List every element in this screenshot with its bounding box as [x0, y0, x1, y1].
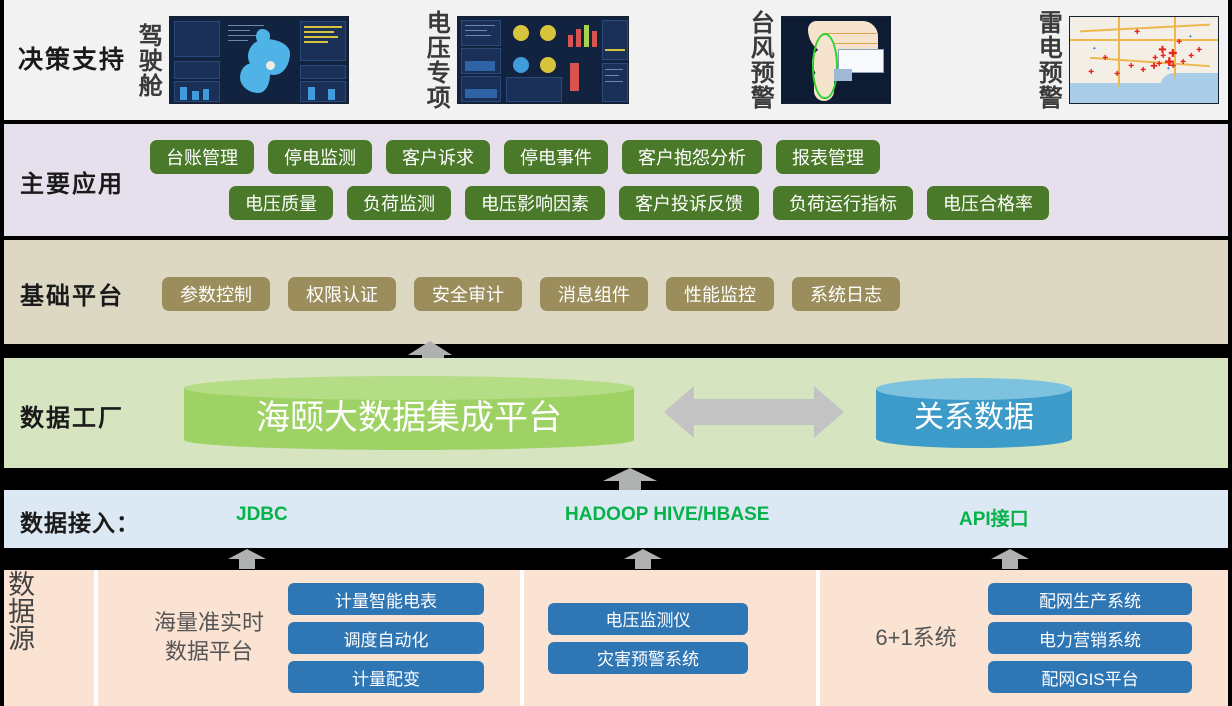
source-chips-monitoring: 电压监测仪 灾害预警系统 — [548, 603, 748, 674]
basic-platform-band: 基础平台 参数控制 权限认证 安全审计 消息组件 性能监控 系统日志 — [4, 240, 1228, 344]
source-chip-metering-transformer[interactable]: 计量配变 — [288, 661, 484, 693]
data-access-band: 数据接入： JDBC HADOOP HIVE/HBASE API接口 — [4, 490, 1228, 548]
architecture-diagram: 决策支持 驾驶舱 — [0, 0, 1232, 706]
thumbnail-title-typhoon: 台风预警 — [746, 10, 771, 110]
apps-row-1: 台账管理 停电监测 客户诉求 停电事件 客户抱怨分析 报表管理 — [150, 140, 880, 174]
app-pill-report-management[interactable]: 报表管理 — [776, 140, 880, 174]
app-pill-voltage-factors[interactable]: 电压影响因素 — [465, 186, 605, 220]
data-factory-label: 数据工厂 — [20, 398, 124, 433]
big-data-platform-cylinder[interactable]: 海颐大数据集成平台 — [184, 378, 634, 450]
source-chip-disaster-warning[interactable]: 灾害预警系统 — [548, 642, 748, 674]
source-chip-dispatch-automation[interactable]: 调度自动化 — [288, 622, 484, 654]
app-pill-voltage-pass-rate[interactable]: 电压合格率 — [927, 186, 1049, 220]
access-item-jdbc[interactable]: JDBC — [236, 504, 288, 526]
thumbnail-group-lightning[interactable]: 雷电预警 ✦ ✦ ✦ ✚ ✚ ✚ ✚ ✚ ✚ ✚ ✚ ✚ — [1034, 8, 1219, 112]
access-item-api[interactable]: API接口 — [959, 504, 1029, 531]
arrow-up-access-to-factory — [580, 468, 680, 492]
source-group-name-realtime: 海量准实时 数据平台 — [144, 609, 274, 666]
thumbnail-title-cockpit: 驾驶舱 — [134, 23, 159, 98]
thumbnail-group-typhoon[interactable]: 台风预警 — [746, 8, 891, 112]
access-item-hadoop[interactable]: HADOOP HIVE/HBASE — [565, 504, 769, 526]
relational-database-cylinder[interactable]: 关系数据 — [876, 380, 1072, 448]
main-applications-band: 主要应用 台账管理 停电监测 客户诉求 停电事件 客户抱怨分析 报表管理 电压质… — [4, 124, 1228, 236]
basic-platform-label: 基础平台 — [20, 276, 124, 311]
source-group-6plus1: 6+1系统 配网生产系统 电力营销系统 配网GIS平台 — [866, 570, 1192, 706]
decision-support-label: 决策支持 — [18, 40, 126, 76]
platform-pill-system-log[interactable]: 系统日志 — [792, 277, 900, 311]
app-pill-ledger-management[interactable]: 台账管理 — [150, 140, 254, 174]
platform-pill-security-audit[interactable]: 安全审计 — [414, 277, 522, 311]
platform-pill-performance-monitor[interactable]: 性能监控 — [666, 277, 774, 311]
source-chips-6plus1: 配网生产系统 电力营销系统 配网GIS平台 — [988, 583, 1192, 693]
data-sources-label: 数据源 — [4, 570, 33, 651]
divider-1 — [94, 570, 98, 706]
app-pill-load-monitoring[interactable]: 负荷监测 — [347, 186, 451, 220]
source-chip-smart-meter[interactable]: 计量智能电表 — [288, 583, 484, 615]
app-pill-load-indicators[interactable]: 负荷运行指标 — [773, 186, 913, 220]
source-group-monitoring: 电压监测仪 灾害预警系统 — [548, 570, 748, 706]
source-chip-distribution-gis[interactable]: 配网GIS平台 — [988, 661, 1192, 693]
platform-items-row: 参数控制 权限认证 安全审计 消息组件 性能监控 系统日志 — [162, 277, 900, 311]
relational-database-label: 关系数据 — [914, 392, 1034, 436]
big-data-platform-label: 海颐大数据集成平台 — [256, 390, 562, 439]
arrow-up-source-to-api — [985, 549, 1035, 569]
app-pill-customer-demand[interactable]: 客户诉求 — [386, 140, 490, 174]
arrow-up-source-to-hadoop — [618, 549, 668, 569]
decision-support-band: 决策支持 驾驶舱 — [4, 0, 1228, 120]
thumbnail-group-voltage[interactable]: 电压专项 — [422, 8, 629, 112]
source-chip-distribution-production[interactable]: 配网生产系统 — [988, 583, 1192, 615]
thumbnail-group-cockpit[interactable]: 驾驶舱 — [134, 8, 349, 112]
data-access-label: 数据接入： — [20, 504, 140, 538]
app-pill-complaint-feedback[interactable]: 客户投诉反馈 — [619, 186, 759, 220]
cockpit-dashboard-thumbnail[interactable] — [169, 16, 349, 104]
main-applications-label: 主要应用 — [20, 164, 124, 199]
data-factory-band: 数据工厂 海颐大数据集成平台 关系数据 — [4, 358, 1228, 468]
divider-3 — [816, 570, 820, 706]
app-pill-outage-monitoring[interactable]: 停电监测 — [268, 140, 372, 174]
source-chip-voltage-monitor[interactable]: 电压监测仪 — [548, 603, 748, 635]
thumbnail-title-voltage: 电压专项 — [422, 10, 447, 110]
arrow-up-source-to-jdbc — [222, 549, 272, 569]
app-pill-voltage-quality[interactable]: 电压质量 — [229, 186, 333, 220]
bidirectional-arrow — [664, 386, 844, 438]
voltage-dashboard-thumbnail[interactable] — [457, 16, 629, 104]
source-group-realtime-platform: 海量准实时 数据平台 计量智能电表 调度自动化 计量配变 — [144, 570, 484, 706]
source-group-name-6plus1: 6+1系统 — [866, 624, 966, 653]
divider-2 — [520, 570, 524, 706]
platform-pill-parameter-control[interactable]: 参数控制 — [162, 277, 270, 311]
app-pill-complaint-analysis[interactable]: 客户抱怨分析 — [622, 140, 762, 174]
thumbnail-title-lightning: 雷电预警 — [1034, 10, 1059, 110]
lightning-map-thumbnail[interactable]: ✦ ✦ ✦ ✚ ✚ ✚ ✚ ✚ ✚ ✚ ✚ ✚ ✚ ✚ ✚ ✚ ✚ ✚ ✚ ✚ — [1069, 16, 1219, 104]
source-chip-power-marketing[interactable]: 电力营销系统 — [988, 622, 1192, 654]
app-pill-outage-event[interactable]: 停电事件 — [504, 140, 608, 174]
source-chips-realtime: 计量智能电表 调度自动化 计量配变 — [288, 583, 484, 693]
typhoon-map-thumbnail[interactable] — [781, 16, 891, 104]
platform-pill-permission-auth[interactable]: 权限认证 — [288, 277, 396, 311]
data-sources-band: 数据源 海量准实时 数据平台 计量智能电表 调度自动化 计量配变 电压监测仪 灾… — [4, 570, 1228, 706]
apps-row-2: 电压质量 负荷监测 电压影响因素 客户投诉反馈 负荷运行指标 电压合格率 — [229, 186, 1049, 220]
platform-pill-message-component[interactable]: 消息组件 — [540, 277, 648, 311]
